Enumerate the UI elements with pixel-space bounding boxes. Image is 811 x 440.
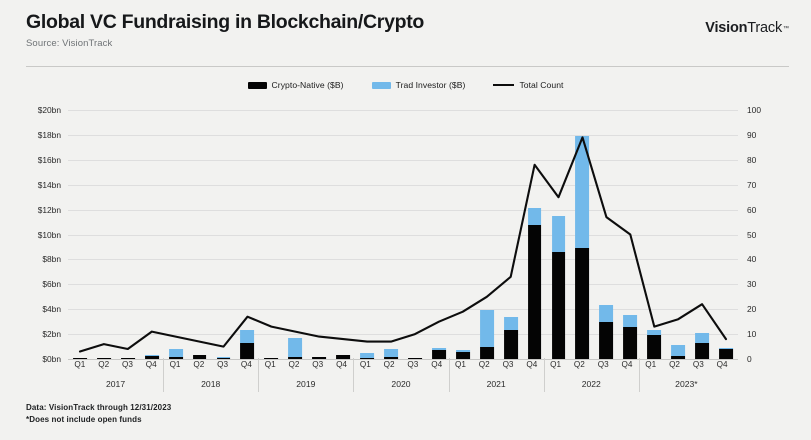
bar-segment-crypto-native <box>73 358 87 359</box>
page-title: Global VC Fundraising in Blockchain/Cryp… <box>26 12 789 33</box>
visiontrack-logo: VisionTrack™ <box>705 20 789 36</box>
stacked-bar <box>217 357 231 359</box>
bar-column[interactable] <box>571 110 595 359</box>
stacked-bar <box>408 358 422 360</box>
bar-segment-trad-investor <box>552 216 566 252</box>
chart-header: Global VC Fundraising in Blockchain/Cryp… <box>26 12 789 60</box>
bar-segment-crypto-native <box>695 343 709 359</box>
right-axis-tick: 40 <box>747 254 756 264</box>
bar-column[interactable] <box>236 110 260 359</box>
legend-item-1[interactable]: Crypto-Native ($B) <box>248 80 344 90</box>
bar-segment-crypto-native <box>599 322 613 359</box>
year-separator <box>163 358 164 392</box>
quarter-tick-label: Q2 <box>98 360 109 369</box>
bar-column[interactable] <box>523 110 547 359</box>
footnote-line-1: Data: VisionTrack through 12/31/2023 <box>26 402 171 414</box>
left-axis-tick: $0bn <box>42 354 61 364</box>
stacked-bar <box>264 358 278 360</box>
quarter-tick-label: Q1 <box>360 360 371 369</box>
quarter-tick-label: Q1 <box>265 360 276 369</box>
quarter-tick-label: Q4 <box>717 360 728 369</box>
stacked-bar <box>97 358 111 360</box>
quarter-labels: Q1Q2Q3Q4Q1Q2Q3Q4Q1Q2Q3Q4Q1Q2Q3Q4Q1Q2Q3Q4… <box>68 360 734 375</box>
quarter-tick-label: Q4 <box>336 360 347 369</box>
legend-item-2[interactable]: Trad Investor ($B) <box>372 80 466 90</box>
quarter-tick-label: Q2 <box>193 360 204 369</box>
bar-column[interactable] <box>164 110 188 359</box>
quarter-tick-label: Q3 <box>693 360 704 369</box>
bar-segment-crypto-native <box>671 356 685 359</box>
bar-segment-trad-investor <box>623 315 637 326</box>
bar-column[interactable] <box>355 110 379 359</box>
right-axis-tick: 30 <box>747 279 756 289</box>
source-subtitle: Source: VisionTrack <box>26 38 789 49</box>
quarter-tick-label: Q4 <box>621 360 632 369</box>
stacked-bar <box>695 333 709 359</box>
year-label: 2018 <box>163 376 258 394</box>
quarter-tick-label: Q3 <box>503 360 514 369</box>
stacked-bar <box>528 208 542 359</box>
bar-segment-crypto-native <box>480 347 494 359</box>
bar-column[interactable] <box>188 110 212 359</box>
stacked-bar <box>480 310 494 359</box>
bar-segment-trad-investor <box>576 136 590 248</box>
bar-column[interactable] <box>68 110 92 359</box>
bar-column[interactable] <box>547 110 571 359</box>
bar-segment-crypto-native <box>241 343 255 359</box>
legend-item-3[interactable]: Total Count <box>493 80 563 90</box>
stacked-bar <box>360 353 374 359</box>
bar-column[interactable] <box>618 110 642 359</box>
bar-column[interactable] <box>666 110 690 359</box>
left-axis-tick: $2bn <box>42 329 61 339</box>
year-label: 2017 <box>68 376 163 394</box>
quarter-tick-label: Q1 <box>170 360 181 369</box>
quarter-tick-label: Q2 <box>479 360 490 369</box>
right-axis-tick: 0 <box>747 354 752 364</box>
stacked-bar <box>312 357 326 359</box>
bar-segment-crypto-native <box>193 355 207 359</box>
left-axis-tick: $18bn <box>38 130 61 140</box>
bar-column[interactable] <box>427 110 451 359</box>
quarter-tick-label: Q3 <box>217 360 228 369</box>
chart-legend: Crypto-Native ($B)Trad Investor ($B)Tota… <box>0 80 811 90</box>
plot-region <box>68 110 738 359</box>
year-separator <box>353 358 354 392</box>
bar-column[interactable] <box>212 110 236 359</box>
quarter-tick-label: Q3 <box>122 360 133 369</box>
stacked-bar <box>647 330 661 359</box>
bar-segment-trad-investor <box>288 338 302 357</box>
quarter-tick-label: Q2 <box>669 360 680 369</box>
quarter-tick-label: Q1 <box>550 360 561 369</box>
x-axis: Q1Q2Q3Q4Q1Q2Q3Q4Q1Q2Q3Q4Q1Q2Q3Q4Q1Q2Q3Q4… <box>68 360 734 394</box>
bar-column[interactable] <box>642 110 666 359</box>
quarter-tick-label: Q1 <box>74 360 85 369</box>
bar-column[interactable] <box>116 110 140 359</box>
year-label: 2022 <box>544 376 639 394</box>
bar-segment-trad-investor <box>169 349 183 356</box>
right-axis-tick: 80 <box>747 155 756 165</box>
left-axis-tick: $6bn <box>42 279 61 289</box>
bar-segment-crypto-native <box>719 349 733 359</box>
quarter-tick-label: Q2 <box>574 360 585 369</box>
right-axis-tick: 20 <box>747 304 756 314</box>
legend-line-swatch-icon <box>493 84 514 86</box>
quarter-tick-label: Q1 <box>645 360 656 369</box>
stacked-bar <box>241 330 255 359</box>
chart-area: $0bn$2bn$4bn$6bn$8bn$10bn$12bn$14bn$16bn… <box>26 103 789 359</box>
year-separator <box>544 358 545 392</box>
bar-column[interactable] <box>714 110 738 359</box>
bar-segment-trad-investor <box>695 333 709 343</box>
stacked-bar <box>432 348 446 359</box>
stacked-bar <box>671 345 685 359</box>
footnote-line-2: *Does not include open funds <box>26 414 171 426</box>
bar-segment-crypto-native <box>647 335 661 359</box>
bar-segment-trad-investor <box>480 310 494 346</box>
quarter-tick-label: Q2 <box>288 360 299 369</box>
bar-segment-crypto-native <box>528 225 542 359</box>
right-axis-labels: 0102030405060708090100 <box>738 110 789 359</box>
bar-segment-crypto-native <box>384 357 398 359</box>
bar-segment-crypto-native <box>336 355 350 359</box>
right-axis-tick: 50 <box>747 230 756 240</box>
stacked-bar <box>623 315 637 359</box>
year-separator <box>258 358 259 392</box>
bar-segment-crypto-native <box>504 330 518 359</box>
chart-page: Global VC Fundraising in Blockchain/Cryp… <box>0 0 811 440</box>
stacked-bar <box>73 358 87 360</box>
year-label: 2019 <box>258 376 353 394</box>
bar-segment-crypto-native <box>456 352 470 359</box>
bar-series-container <box>68 110 738 359</box>
bar-segment-crypto-native <box>145 356 159 359</box>
stacked-bar <box>504 317 518 359</box>
chart-footnote: Data: VisionTrack through 12/31/2023 *Do… <box>26 402 171 426</box>
bar-column[interactable] <box>92 110 116 359</box>
stacked-bar <box>336 355 350 359</box>
legend-label: Trad Investor ($B) <box>396 80 466 90</box>
bar-segment-crypto-native <box>121 358 135 359</box>
left-axis-tick: $12bn <box>38 205 61 215</box>
stacked-bar <box>121 358 135 360</box>
stacked-bar <box>145 355 159 359</box>
legend-label: Total Count <box>519 80 563 90</box>
bar-segment-crypto-native <box>552 252 566 359</box>
bar-segment-crypto-native <box>217 358 231 359</box>
bar-column[interactable] <box>331 110 355 359</box>
bar-segment-trad-investor <box>384 349 398 356</box>
year-labels: 2017201820192020202120222023* <box>68 376 734 394</box>
bar-segment-crypto-native <box>360 358 374 359</box>
trademark-icon: ™ <box>783 26 789 32</box>
left-axis-tick: $14bn <box>38 180 61 190</box>
bar-column[interactable] <box>140 110 164 359</box>
bar-segment-trad-investor <box>599 305 613 321</box>
quarter-tick-label: Q3 <box>312 360 323 369</box>
year-separator <box>449 358 450 392</box>
bar-segment-crypto-native <box>432 350 446 359</box>
quarter-tick-label: Q4 <box>241 360 252 369</box>
bar-column[interactable] <box>379 110 403 359</box>
bar-column[interactable] <box>690 110 714 359</box>
quarter-tick-label: Q3 <box>407 360 418 369</box>
left-axis-tick: $16bn <box>38 155 61 165</box>
left-axis-tick: $4bn <box>42 304 61 314</box>
year-label: 2020 <box>353 376 448 394</box>
left-axis-labels: $0bn$2bn$4bn$6bn$8bn$10bn$12bn$14bn$16bn… <box>26 110 68 359</box>
right-axis-tick: 90 <box>747 130 756 140</box>
stacked-bar <box>456 350 470 359</box>
bar-column[interactable] <box>594 110 618 359</box>
bar-segment-crypto-native <box>576 248 590 359</box>
bar-column[interactable] <box>451 110 475 359</box>
bar-column[interactable] <box>307 110 331 359</box>
quarter-tick-label: Q1 <box>455 360 466 369</box>
stacked-bar <box>193 355 207 359</box>
quarter-tick-label: Q3 <box>598 360 609 369</box>
stacked-bar <box>576 136 590 359</box>
stacked-bar <box>169 349 183 359</box>
stacked-bar <box>288 338 302 359</box>
year-separator <box>639 358 640 392</box>
left-axis-tick: $10bn <box>38 230 61 240</box>
year-label: 2021 <box>449 376 544 394</box>
bar-segment-crypto-native <box>312 357 326 359</box>
bar-segment-crypto-native <box>288 357 302 359</box>
legend-bar-swatch-icon <box>372 82 391 89</box>
logo-bold-part: Vision <box>705 20 747 36</box>
right-axis-tick: 70 <box>747 180 756 190</box>
quarter-tick-label: Q4 <box>146 360 157 369</box>
bar-column[interactable] <box>475 110 499 359</box>
right-axis-tick: 60 <box>747 205 756 215</box>
bar-segment-trad-investor <box>504 317 518 331</box>
legend-bar-swatch-icon <box>248 82 267 89</box>
bar-column[interactable] <box>403 110 427 359</box>
quarter-tick-label: Q2 <box>384 360 395 369</box>
left-axis-tick: $20bn <box>38 105 61 115</box>
year-label: 2023* <box>639 376 734 394</box>
bar-segment-trad-investor <box>528 208 542 224</box>
header-divider <box>26 66 789 67</box>
bar-segment-crypto-native <box>97 358 111 359</box>
right-axis-tick: 100 <box>747 105 761 115</box>
quarter-tick-label: Q4 <box>526 360 537 369</box>
stacked-bar <box>384 349 398 359</box>
quarter-tick-label: Q4 <box>431 360 442 369</box>
bar-column[interactable] <box>259 110 283 359</box>
legend-label: Crypto-Native ($B) <box>272 80 344 90</box>
stacked-bar <box>599 305 613 359</box>
bar-segment-trad-investor <box>241 330 255 342</box>
bar-column[interactable] <box>499 110 523 359</box>
bar-segment-crypto-native <box>169 357 183 359</box>
bar-segment-trad-investor <box>671 345 685 356</box>
stacked-bar <box>719 348 733 359</box>
right-axis-tick: 10 <box>747 329 756 339</box>
logo-rest-part: Track <box>747 20 782 36</box>
bar-segment-crypto-native <box>408 358 422 359</box>
stacked-bar <box>552 216 566 359</box>
bar-segment-crypto-native <box>623 327 637 359</box>
left-axis-tick: $8bn <box>42 254 61 264</box>
bar-column[interactable] <box>283 110 307 359</box>
bar-segment-crypto-native <box>264 358 278 359</box>
